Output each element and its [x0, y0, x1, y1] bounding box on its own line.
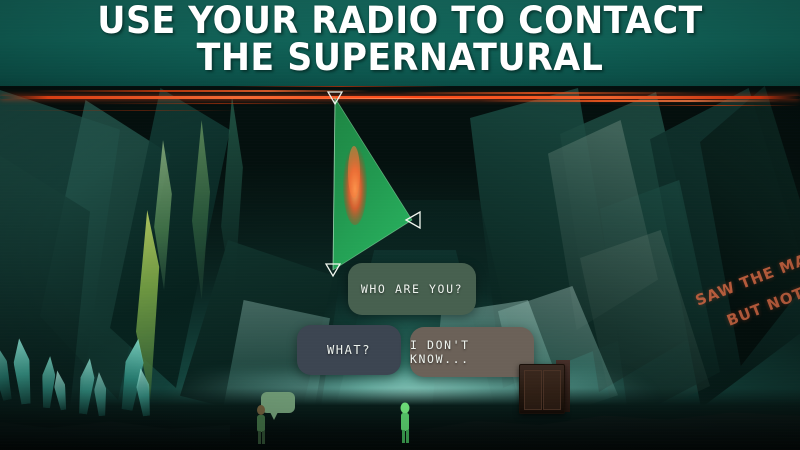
speech-bubble-text: I DON'T KNOW...: [410, 338, 534, 366]
speech-bubble-text: WHAT?: [327, 343, 371, 357]
speech-bubble-who-are-you[interactable]: WHO ARE YOU?: [348, 263, 476, 315]
speech-bubble-i-dont-know[interactable]: I DON'T KNOW...: [410, 327, 534, 377]
wooden-cabinet: [519, 364, 565, 414]
headline-line-2: THE SUPERNATURAL: [24, 39, 776, 76]
game-promo-screenshot: WHO ARE YOU? WHAT? I DON'T KNOW... SAW T…: [0, 0, 800, 450]
headline-line-1: USE YOUR RADIO TO CONTACT: [24, 2, 776, 39]
character-right: [397, 402, 413, 449]
speech-bubble-text: WHO ARE YOU?: [361, 282, 463, 296]
promo-headline: USE YOUR RADIO TO CONTACT THE SUPERNATUR…: [24, 2, 776, 76]
speech-bubble-what[interactable]: WHAT?: [297, 325, 401, 375]
character-left: [253, 405, 269, 450]
